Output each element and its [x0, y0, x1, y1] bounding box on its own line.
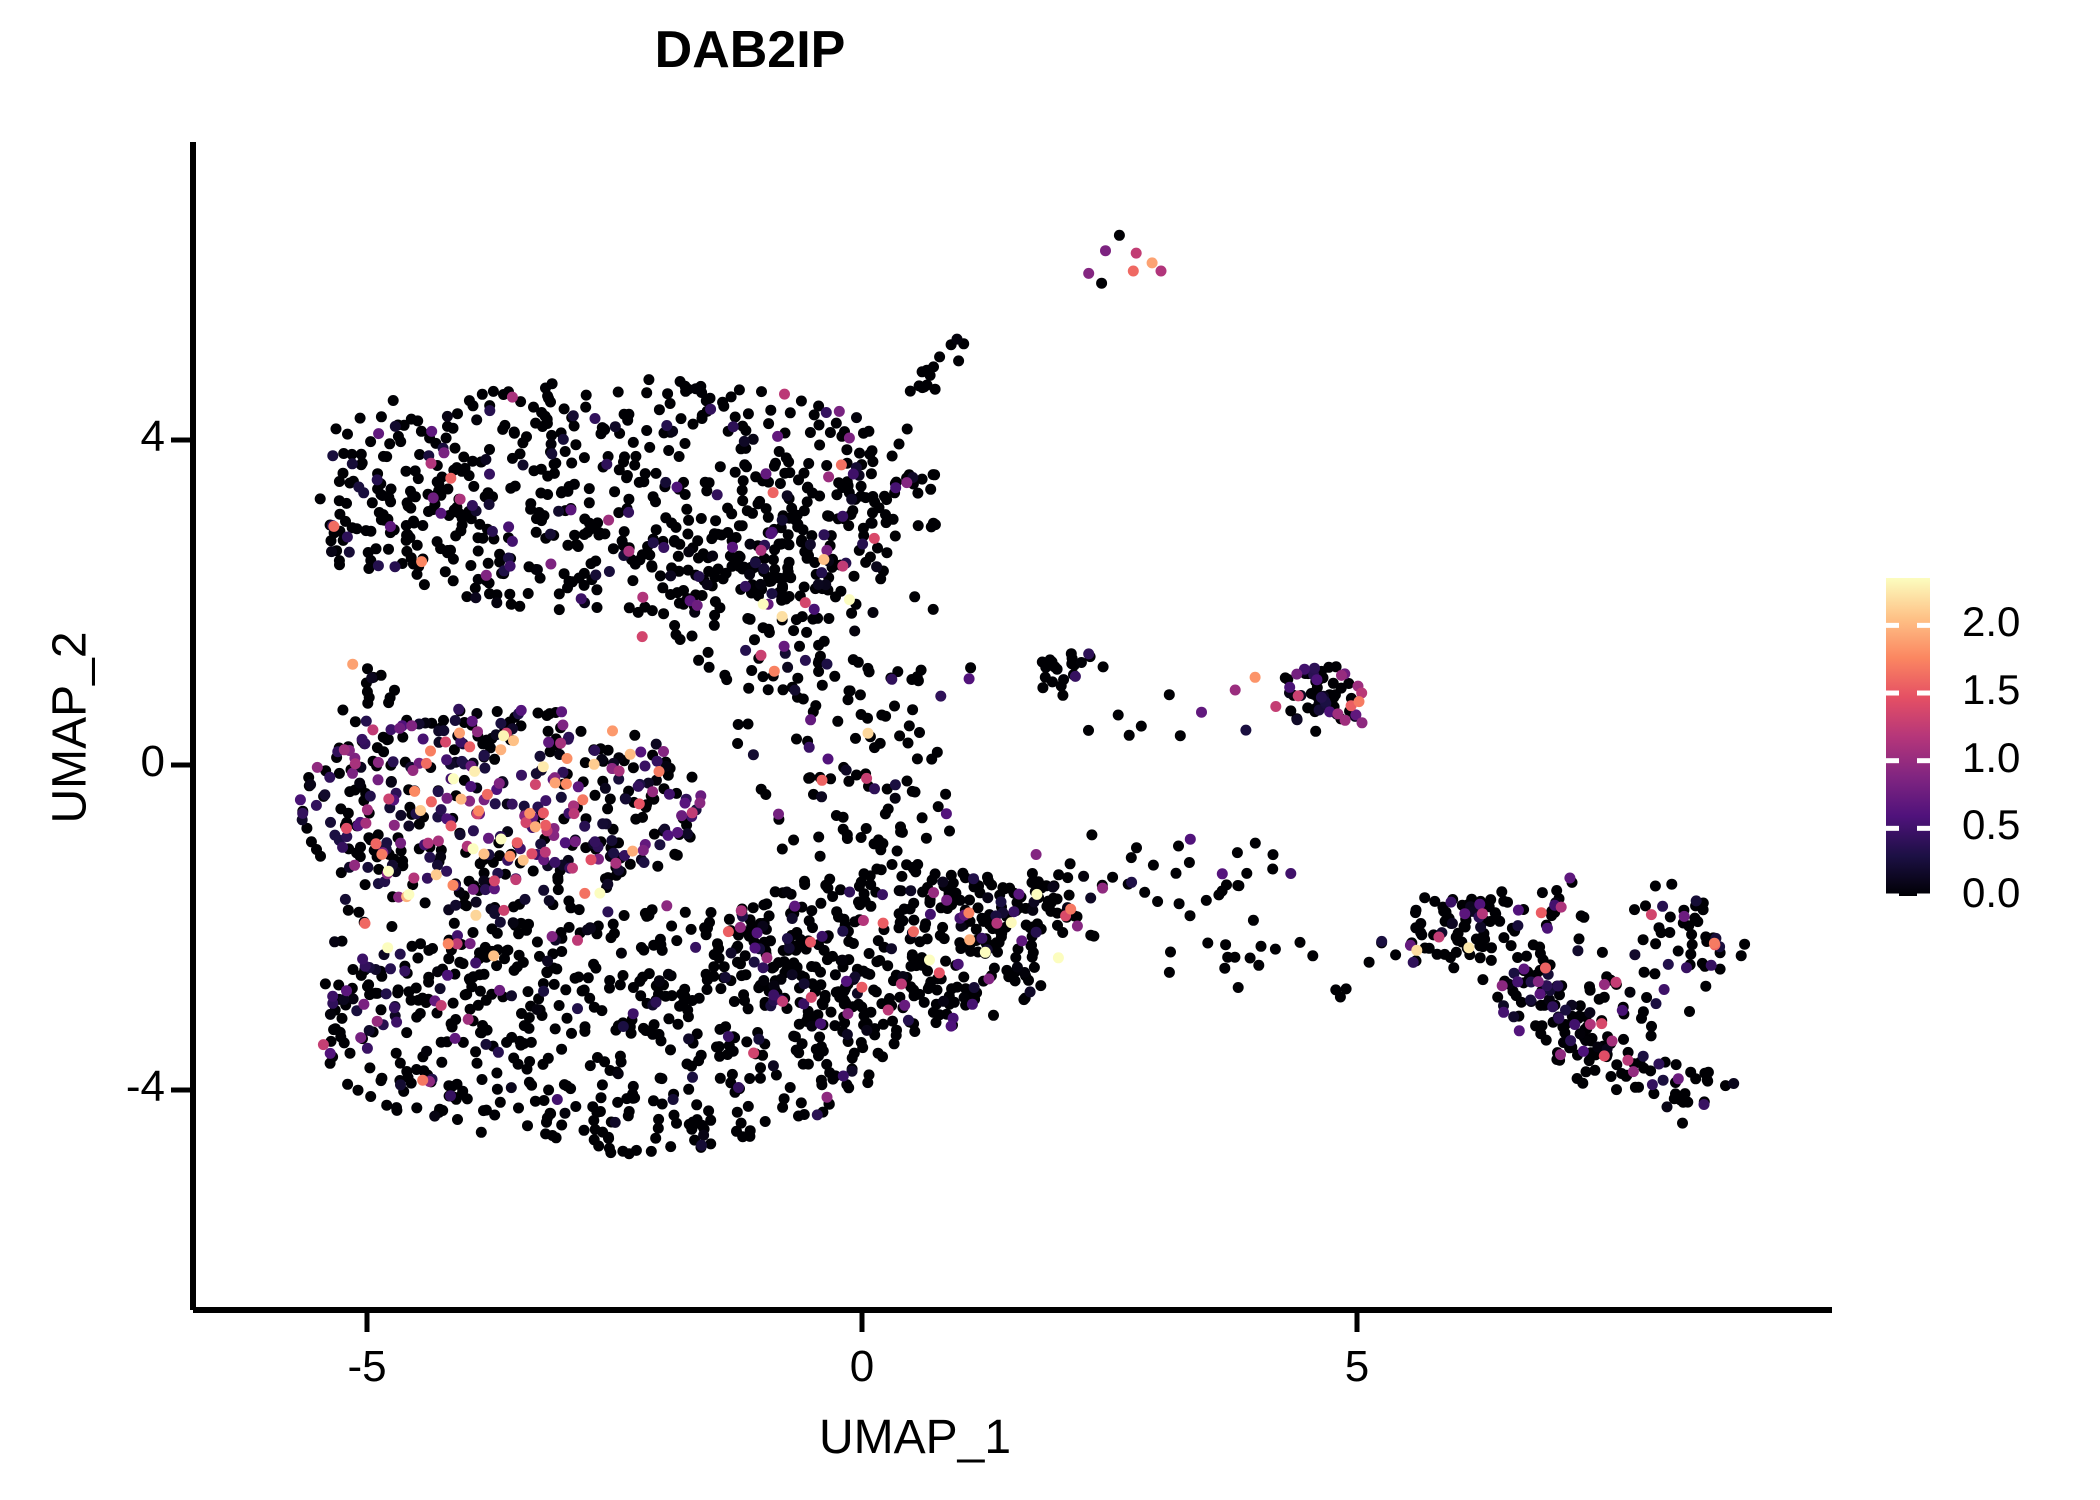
- umap-feature-plot: DAB2IP UMAP_1 UMAP_2 -505 40-4 2.01.51.0…: [0, 0, 2100, 1500]
- legend-tick-label-0: 2.0: [1962, 598, 2020, 646]
- legend-tick-mark: [1886, 894, 1899, 899]
- page-title: DAB2IP: [0, 20, 1500, 80]
- legend-tick-mark: [1886, 758, 1899, 763]
- legend-tick-mark: [1917, 894, 1930, 899]
- y-tick-label-0: 4: [45, 412, 165, 462]
- y-axis-title: UMAP_2: [43, 378, 98, 1078]
- legend-tick-mark: [1917, 826, 1930, 831]
- legend-tick-label-3: 0.5: [1962, 801, 2020, 849]
- y-tick-label-2: -4: [45, 1062, 165, 1112]
- legend-tick-mark: [1917, 623, 1930, 628]
- legend-colorbar: [1886, 578, 1930, 899]
- legend-tick-mark: [1886, 691, 1899, 696]
- legend-tick-mark: [1917, 691, 1930, 696]
- x-tick-label-1: 0: [802, 1342, 922, 1392]
- legend-tick-label-1: 1.5: [1962, 666, 2020, 714]
- x-tick-label-2: 5: [1297, 1342, 1417, 1392]
- x-axis-title: UMAP_1: [0, 1410, 1830, 1465]
- legend-tick-label-4: 0.0: [1962, 869, 2020, 917]
- scatter-canvas: [0, 0, 2100, 1500]
- x-tick-label-0: -5: [307, 1342, 427, 1392]
- legend-tick-mark: [1886, 826, 1899, 831]
- legend-tick-mark: [1917, 758, 1930, 763]
- y-tick-label-1: 0: [45, 737, 165, 787]
- legend-tick-mark: [1886, 623, 1899, 628]
- scatter-points: [295, 230, 1750, 1159]
- legend-tick-label-2: 1.0: [1962, 734, 2020, 782]
